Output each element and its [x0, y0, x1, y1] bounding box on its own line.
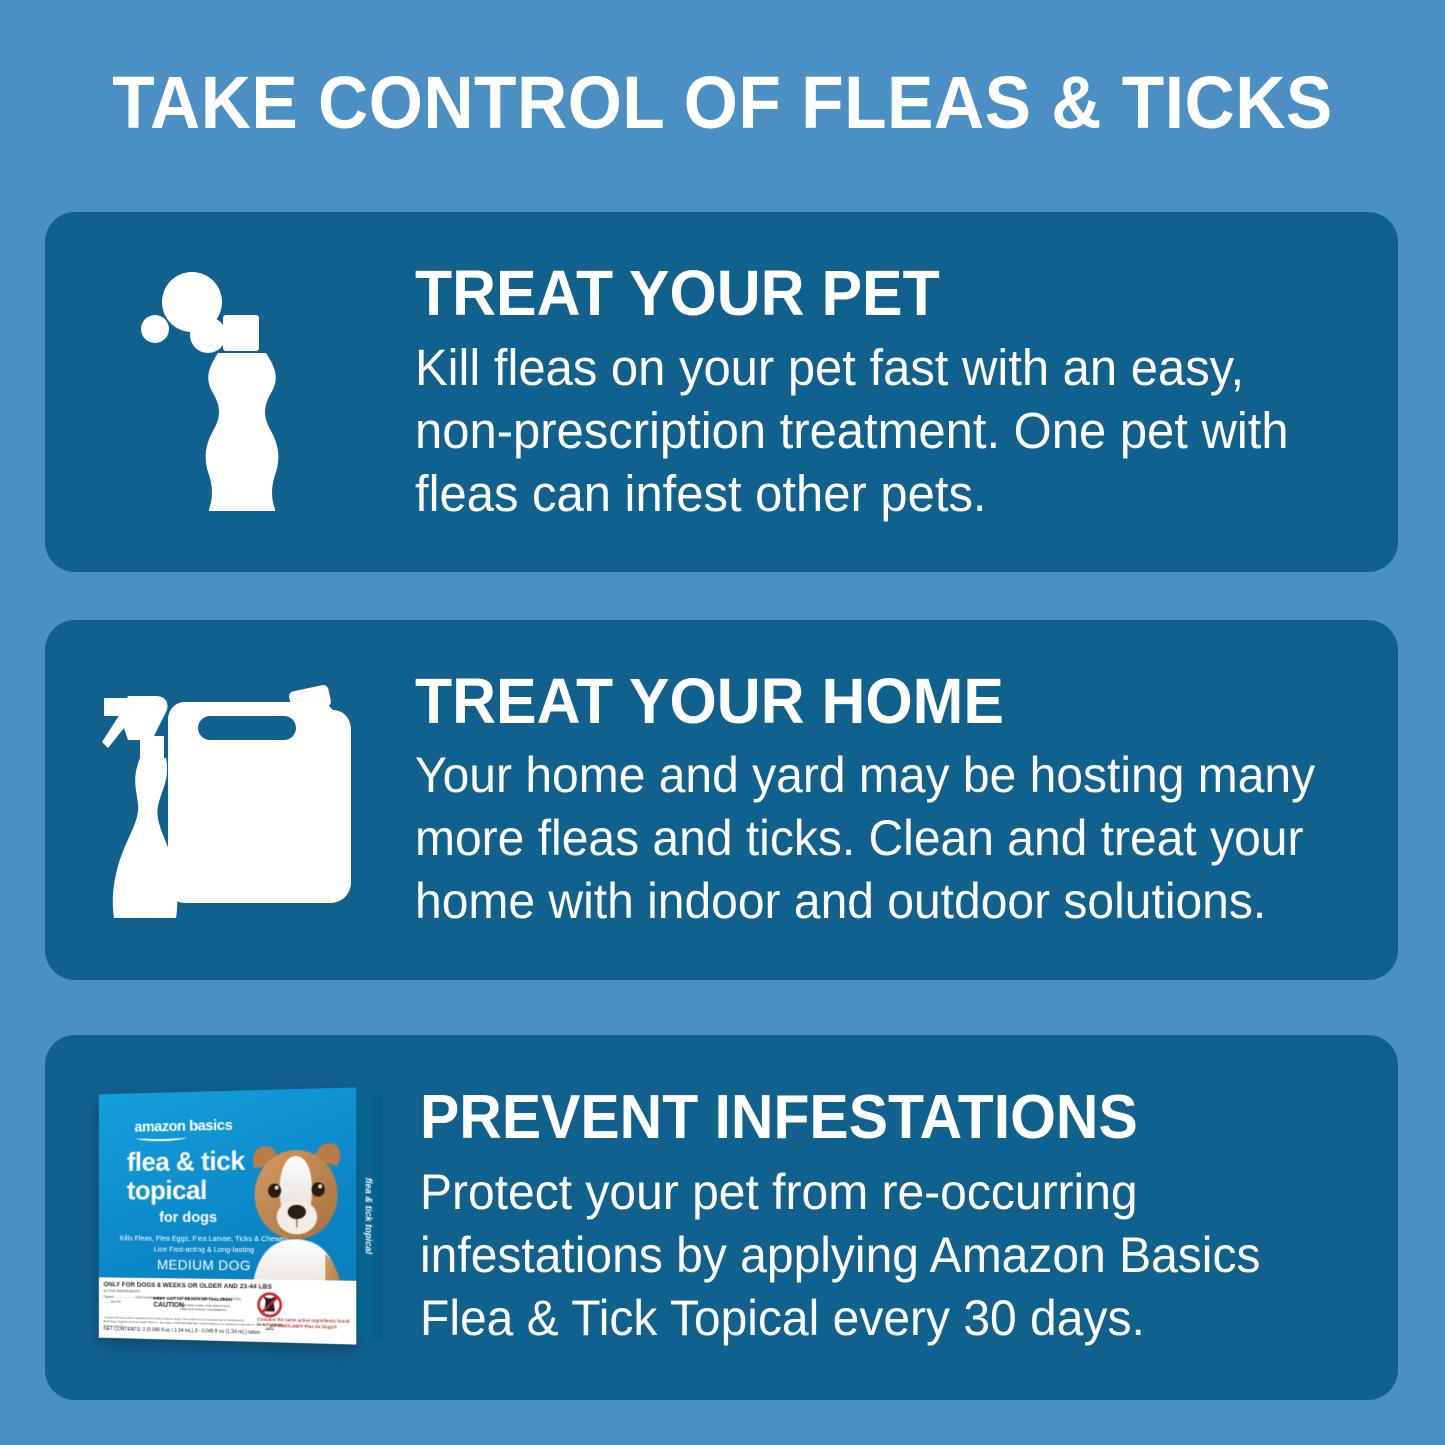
product-box-size: MEDIUM DOG: [117, 1256, 292, 1274]
no-cats-warning: DO NOT USE ON CATS: [252, 1291, 286, 1331]
keep-out-of-reach-text: KEEP OUT OF REACH OF CHILDREN: [153, 1295, 232, 1301]
card-1-body: TREAT YOUR PET Kill fleas on your pet fa…: [415, 260, 1398, 525]
product-box-side-panel: flea & tick topical: [354, 1089, 383, 1343]
card-prevent-infestations: flea & tick topical amazon basics flea &…: [45, 1035, 1398, 1400]
card-3-heading: PREVENT INFESTATIONS: [420, 1085, 1309, 1151]
product-box-front: amazon basics flea & tick topical for do…: [98, 1087, 355, 1344]
amazon-basics-logo: amazon basics: [134, 1116, 232, 1135]
amazon-smile-icon: [136, 1133, 186, 1141]
active-ingredients-label: ACTIVE INGREDIENTS:: [103, 1289, 140, 1294]
card-3-text: Protect your pet from re-occurring infes…: [420, 1161, 1319, 1350]
product-box-side-label: flea & tick topical: [363, 1176, 373, 1255]
spray-bottle-jug-icon: [90, 680, 370, 920]
net-contents-text: NET CONTENTS: 3 (0.045 fl oz / 1.34 mL) …: [103, 1326, 260, 1336]
product-box: flea & tick topical amazon basics flea &…: [98, 1087, 355, 1344]
product-box-claims: Kills Fleas, Flea Eggs, Flea Larvae, Tic…: [117, 1232, 292, 1255]
soap-bottle-bubbles-icon: [130, 267, 330, 517]
frontline-comparison-banner: Contains the same active ingredients fou…: [250, 1313, 356, 1334]
caution-detail-text: SEE SIDE PANEL FOR ADDITIONAL PRECAUTION…: [180, 1303, 248, 1312]
page-title: TAKE CONTROL OF FLEAS & TICKS: [43, 62, 1401, 144]
dog-photo: [236, 1130, 355, 1315]
product-box-warning-band: ONLY FOR DOGS 8 WEEKS OR OLDER AND 23-44…: [98, 1277, 355, 1344]
caution-text: CAUTION: [153, 1301, 184, 1309]
card-2-media: [45, 620, 415, 980]
no-cats-icon: [256, 1291, 282, 1318]
card-1-media: [45, 212, 415, 572]
product-box-image: flea & tick topical amazon basics flea &…: [83, 1073, 383, 1363]
no-cats-label: DO NOT USE ON CATS: [252, 1322, 286, 1331]
card-1-text: Kill fleas on your pet fast with an easy…: [415, 336, 1318, 525]
product-box-title: flea & tick topical: [126, 1146, 272, 1205]
card-3-media: flea & tick topical amazon basics flea &…: [45, 1035, 420, 1400]
product-box-subtitle: for dogs: [159, 1209, 217, 1226]
card-1-heading: TREAT YOUR PET: [415, 260, 1309, 326]
card-3-body: PREVENT INFESTATIONS Protect your pet fr…: [420, 1085, 1398, 1350]
card-2-body: TREAT YOUR HOME Your home and yard may b…: [415, 668, 1398, 933]
card-2-text: Your home and yard may be hosting many m…: [415, 744, 1318, 933]
card-treat-your-pet: TREAT YOUR PET Kill fleas on your pet fa…: [45, 212, 1398, 572]
card-2-heading: TREAT YOUR HOME: [415, 668, 1309, 734]
card-treat-your-home: TREAT YOUR HOME Your home and yard may b…: [45, 620, 1398, 980]
